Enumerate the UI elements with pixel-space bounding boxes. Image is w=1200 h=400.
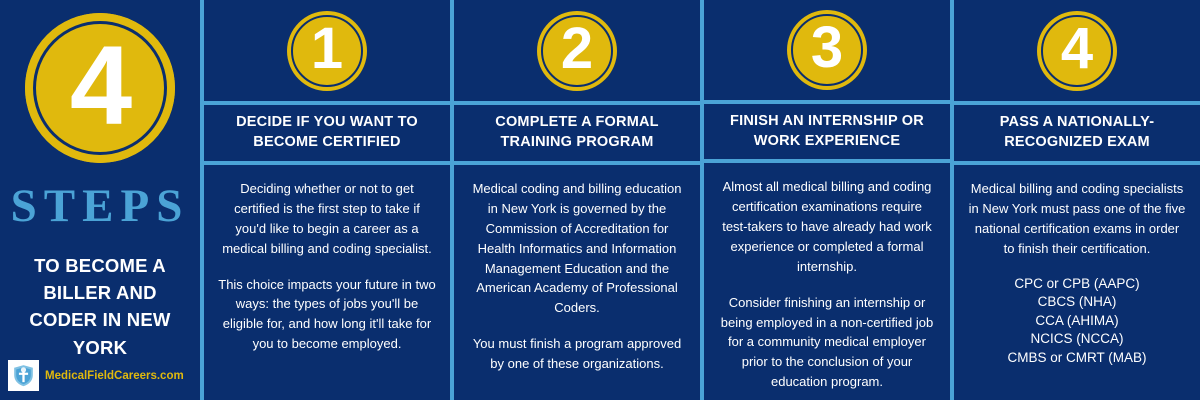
step-1-badge-area: 1: [204, 0, 450, 105]
step-column-4: 4 PASS A NATIONALLY-RECOGNIZED EXAM Medi…: [950, 0, 1200, 400]
shield-icon: [8, 360, 39, 391]
step-4-number: 4: [1061, 20, 1093, 78]
steps-word: STEPS: [11, 183, 190, 230]
step-1-paragraph-1: Deciding whether or not to get certified…: [218, 179, 436, 259]
step-3-header: FINISH AN INTERNSHIP OR WORK EXPERIENCE: [704, 104, 950, 163]
step-3-body: Almost all medical billing and coding ce…: [704, 163, 950, 400]
step-2-heading: COMPLETE A FORMAL TRAINING PROGRAM: [464, 113, 690, 153]
brand[interactable]: MedicalFieldCareers.com: [8, 360, 184, 391]
step-column-2: 2 COMPLETE A FORMAL TRAINING PROGRAM Med…: [450, 0, 700, 400]
step-4-heading: PASS A NATIONALLY-RECOGNIZED EXAM: [964, 113, 1190, 153]
step-3-number: 3: [811, 19, 843, 77]
step-column-3: 3 FINISH AN INTERNSHIP OR WORK EXPERIENC…: [700, 0, 950, 400]
steps-columns: 1 DECIDE IF YOU WANT TO BECOME CERTIFIED…: [200, 0, 1200, 400]
step-1-header: DECIDE IF YOU WANT TO BECOME CERTIFIED: [204, 105, 450, 165]
step-1-badge: 1: [287, 11, 367, 91]
certification-item: NCICS (NCCA): [968, 330, 1186, 349]
sidebar-badge-number: 4: [70, 30, 130, 142]
step-1-body: Deciding whether or not to get certified…: [204, 165, 450, 400]
step-4-badge-area: 4: [954, 0, 1200, 105]
infographic-root: 4 STEPS TO BECOME A BILLER AND CODER IN …: [0, 0, 1200, 400]
step-3-paragraph-2: Consider finishing an internship or bein…: [718, 293, 936, 392]
step-1-paragraph-2: This choice impacts your future in two w…: [218, 275, 436, 355]
step-2-paragraph-1: Medical coding and billing education in …: [468, 179, 686, 318]
step-4-header: PASS A NATIONALLY-RECOGNIZED EXAM: [954, 105, 1200, 165]
step-1-heading: DECIDE IF YOU WANT TO BECOME CERTIFIED: [214, 113, 440, 153]
sidebar-number-badge: 4: [25, 13, 175, 163]
step-1-number: 1: [311, 20, 343, 78]
sidebar: 4 STEPS TO BECOME A BILLER AND CODER IN …: [0, 0, 200, 400]
sidebar-subtitle: TO BECOME A BILLER AND CODER IN NEW YORK: [10, 252, 190, 361]
step-3-badge: 3: [787, 10, 867, 90]
certification-item: CMBS or CMRT (MAB): [968, 349, 1186, 368]
certification-item: CPC or CPB (AAPC): [968, 275, 1186, 294]
certification-list: CPC or CPB (AAPC) CBCS (NHA) CCA (AHIMA)…: [968, 275, 1186, 368]
step-2-number: 2: [561, 20, 593, 78]
step-4-body: Medical billing and coding specialists i…: [954, 165, 1200, 400]
step-2-badge: 2: [537, 11, 617, 91]
certification-item: CBCS (NHA): [968, 293, 1186, 312]
brand-name: MedicalFieldCareers.com: [45, 370, 184, 382]
step-4-badge: 4: [1037, 11, 1117, 91]
step-3-badge-area: 3: [704, 0, 950, 104]
step-column-1: 1 DECIDE IF YOU WANT TO BECOME CERTIFIED…: [200, 0, 450, 400]
step-2-header: COMPLETE A FORMAL TRAINING PROGRAM: [454, 105, 700, 165]
certification-item: CCA (AHIMA): [968, 312, 1186, 331]
step-3-paragraph-1: Almost all medical billing and coding ce…: [718, 177, 936, 276]
step-3-heading: FINISH AN INTERNSHIP OR WORK EXPERIENCE: [714, 112, 940, 152]
step-2-body: Medical coding and billing education in …: [454, 165, 700, 400]
step-2-paragraph-2: You must finish a program approved by on…: [468, 334, 686, 374]
step-2-badge-area: 2: [454, 0, 700, 105]
step-4-paragraph-1: Medical billing and coding specialists i…: [968, 179, 1186, 259]
